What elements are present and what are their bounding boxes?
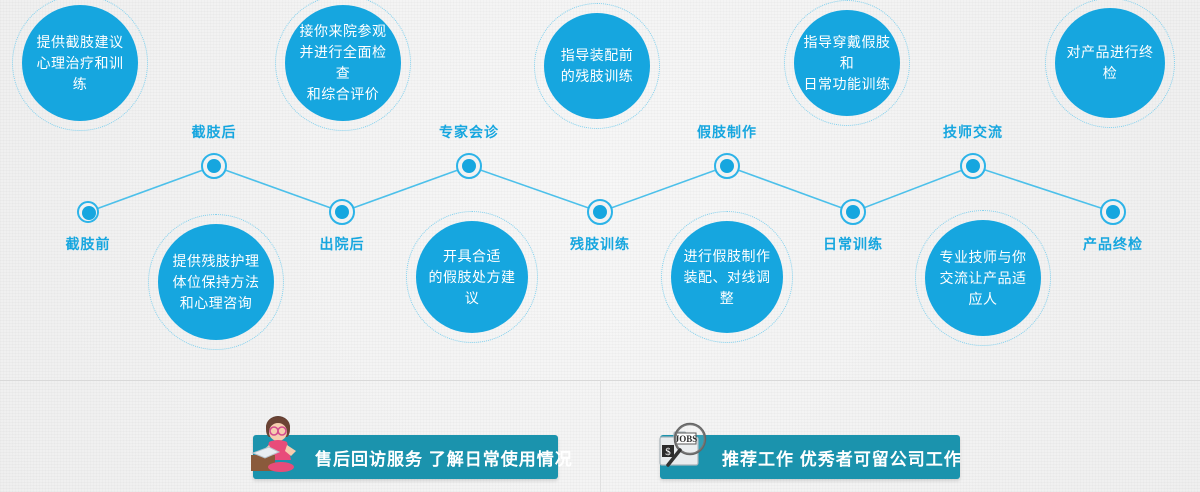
timeline-node-label: 假肢制作	[667, 122, 787, 142]
timeline-node[interactable]	[960, 153, 986, 179]
info-bubble-text: 开具合适 的假肢处方建议	[416, 246, 528, 309]
info-bubble[interactable]: 接你来院参观 并进行全面检查 和综合评价	[285, 5, 401, 121]
info-bubble[interactable]: 对产品进行终检	[1055, 8, 1165, 118]
info-bubble[interactable]: 指导装配前 的残肢训练	[544, 13, 650, 119]
info-bubble[interactable]: 提供残肢护理 体位保持方法 和心理咨询	[158, 224, 274, 340]
timeline-node[interactable]	[714, 153, 740, 179]
timeline-node-label: 技师交流	[913, 122, 1033, 142]
jobs-magnifier-briefcase-icon: $ JOBS	[654, 413, 716, 475]
svg-text:$: $	[665, 446, 671, 458]
info-bubble[interactable]: 开具合适 的假肢处方建议	[416, 221, 528, 333]
timeline-node-label: 截肢前	[28, 234, 148, 254]
timeline-node[interactable]	[77, 201, 99, 223]
info-bubble[interactable]: 进行假肢制作 装配、对线调整	[671, 221, 783, 333]
info-bubble[interactable]: 指导穿戴假肢和 日常功能训练	[794, 10, 900, 116]
timeline-node-label: 出院后	[282, 234, 402, 254]
info-bubble-text: 提供截肢建议 心理治疗和训练	[22, 32, 138, 95]
timeline-node[interactable]	[201, 153, 227, 179]
footer-banner[interactable]: $ JOBS 推荐工作 优秀者可留公司工作	[660, 435, 960, 479]
timeline-node[interactable]	[1100, 199, 1126, 225]
info-bubble-text: 对产品进行终检	[1055, 42, 1165, 84]
divider-vertical-left	[600, 380, 601, 492]
timeline-node-label: 专家会诊	[409, 122, 529, 142]
timeline-node-label: 日常训练	[793, 234, 913, 254]
info-bubble-text: 提供残肢护理 体位保持方法 和心理咨询	[165, 251, 268, 314]
footer-banner-title: 售后回访服务 了解日常使用情况	[315, 445, 573, 470]
svg-text:JOBS: JOBS	[675, 434, 698, 444]
footer-banner[interactable]: 售后回访服务 了解日常使用情况	[253, 435, 558, 479]
timeline-node[interactable]	[587, 199, 613, 225]
info-bubble[interactable]: 提供截肢建议 心理治疗和训练	[22, 5, 138, 121]
info-bubble-text: 进行假肢制作 装配、对线调整	[671, 246, 783, 309]
info-bubble-text: 指导装配前 的残肢训练	[553, 45, 642, 87]
timeline-node-label: 截肢后	[154, 122, 274, 142]
info-bubble-text: 专业技师与你 交流让产品适应人	[925, 247, 1041, 310]
info-bubble[interactable]: 专业技师与你 交流让产品适应人	[925, 220, 1041, 336]
timeline-node[interactable]	[456, 153, 482, 179]
customer-service-woman-icon	[247, 413, 309, 475]
timeline-node[interactable]	[840, 199, 866, 225]
infographic-stage: 提供截肢建议 心理治疗和训练接你来院参观 并进行全面检查 和综合评价指导装配前 …	[0, 0, 1200, 492]
footer-banner-title: 推荐工作 优秀者可留公司工作	[722, 445, 962, 470]
info-bubble-text: 指导穿戴假肢和 日常功能训练	[794, 32, 900, 95]
timeline-node[interactable]	[329, 199, 355, 225]
timeline-node-label: 产品终检	[1053, 234, 1173, 254]
info-bubble-text: 接你来院参观 并进行全面检查 和综合评价	[285, 21, 401, 105]
timeline-node-label: 残肢训练	[540, 234, 660, 254]
